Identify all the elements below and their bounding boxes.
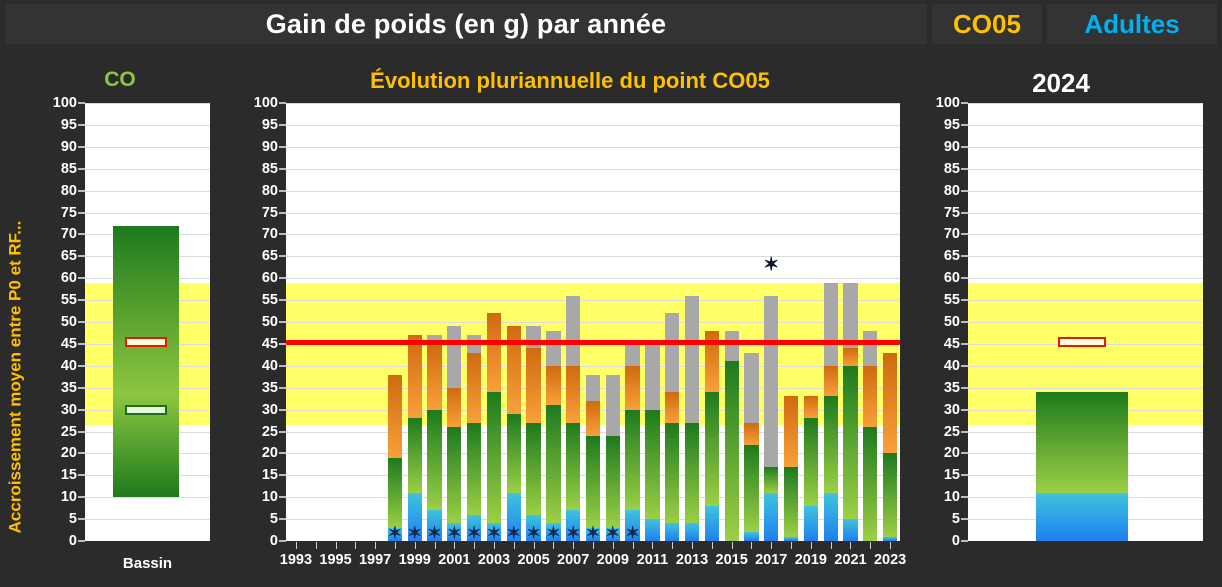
x-tick-mark <box>454 542 455 549</box>
y-tick-mark <box>961 146 968 148</box>
bar-segment-green <box>804 418 818 506</box>
y-tick-label: 15 <box>922 467 960 483</box>
bar-segment-green <box>427 410 441 511</box>
bar-segment-green <box>625 410 639 511</box>
outlier-star-icon: ✶ <box>763 256 779 275</box>
y-tick-label: 90 <box>922 139 960 155</box>
x-tick-mark <box>692 542 693 549</box>
x-tick-mark <box>514 542 515 549</box>
y-tick-mark <box>961 255 968 257</box>
y-tick-mark <box>961 387 968 389</box>
bar-segment-green <box>447 427 461 523</box>
y-tick-label: 80 <box>39 183 77 199</box>
y-tick-mark <box>78 452 85 454</box>
bar-segment-orange <box>487 313 501 392</box>
gridline <box>85 497 210 498</box>
y-tick-mark <box>961 321 968 323</box>
y-tick-label: 60 <box>240 270 278 286</box>
stacked-bar[interactable] <box>388 103 402 541</box>
stacked-bar[interactable] <box>645 103 659 541</box>
y-tick-label: 60 <box>39 270 77 286</box>
y-tick-label: 55 <box>922 292 960 308</box>
y-tick-mark <box>961 233 968 235</box>
bar-segment-gray <box>824 283 838 366</box>
timeseries-y-ticks: 0510152025303540455055606570758085909510… <box>240 103 286 541</box>
bar-segment-orange <box>447 388 461 427</box>
timeseries-chart-title: Évolution pluriannuelle du point CO05 <box>240 68 900 94</box>
y-axis-caption: Accroissement moyen entre P0 et RF... <box>2 147 28 587</box>
bar-segment-orange <box>625 366 639 410</box>
bar-segment-green <box>705 392 719 506</box>
x-tick-mark <box>415 542 416 549</box>
x-tick-mark <box>850 542 851 549</box>
panel-timeseries: Évolution pluriannuelle du point CO05 05… <box>240 52 900 587</box>
bar-segment-orange <box>566 366 580 423</box>
page-title: Gain de poids (en g) par année <box>266 9 667 40</box>
bar-segment-blue <box>645 519 659 541</box>
x-tick-mark <box>791 542 792 549</box>
bar-segment-green <box>725 361 739 541</box>
x-tick-mark <box>593 542 594 549</box>
bar-segment-orange <box>408 335 422 418</box>
y-tick-mark <box>279 387 286 389</box>
stacked-bar[interactable] <box>705 103 719 541</box>
bar-segment-gray <box>744 353 758 423</box>
y-tick-label: 65 <box>922 248 960 264</box>
x-tick-mark <box>296 542 297 549</box>
bar-segment-gray <box>645 340 659 410</box>
bar-segment-orange <box>665 392 679 423</box>
x-tick-label: 2021 <box>834 552 866 568</box>
x-tick-label: 2003 <box>478 552 510 568</box>
basin-y-ticks: 0510152025303540455055606570758085909510… <box>39 103 85 541</box>
y-tick-label: 90 <box>240 139 278 155</box>
y-tick-label: 10 <box>39 489 77 505</box>
bar-segment-green <box>843 366 857 519</box>
y-tick-mark <box>78 255 85 257</box>
bar-segment-blue <box>764 493 778 541</box>
bar-segment-orange <box>546 366 560 405</box>
y-tick-mark <box>961 343 968 345</box>
y-tick-label: 25 <box>922 424 960 440</box>
y-tick-label: 40 <box>39 358 77 374</box>
stacked-bar[interactable] <box>408 103 422 541</box>
y-tick-label: 85 <box>39 161 77 177</box>
stacked-bar[interactable] <box>804 103 818 541</box>
y-tick-mark <box>961 124 968 126</box>
bar-segment-green <box>883 453 897 536</box>
y-tick-mark <box>78 540 85 542</box>
y-tick-label: 10 <box>922 489 960 505</box>
y-tick-mark <box>279 474 286 476</box>
gridline <box>85 169 210 170</box>
bar-segment-green <box>467 423 481 515</box>
y-tick-mark <box>961 299 968 301</box>
bar-segment-orange <box>824 366 838 397</box>
y-tick-label: 30 <box>39 402 77 418</box>
x-tick-mark <box>613 542 614 549</box>
x-tick-mark <box>474 542 475 549</box>
x-tick-label: 1999 <box>399 552 431 568</box>
y-tick-mark <box>961 365 968 367</box>
x-tick-mark <box>633 542 634 549</box>
y-tick-label: 70 <box>39 226 77 242</box>
bar-segment-blue <box>883 537 897 541</box>
y-tick-label: 20 <box>240 445 278 461</box>
bar-segment-blue <box>705 506 719 541</box>
bar-segment-green <box>685 423 699 524</box>
basin-category-label: Bassin <box>123 555 172 572</box>
bar-segment-orange <box>784 396 798 466</box>
stacked-bar[interactable] <box>507 103 521 541</box>
y-tick-mark <box>961 277 968 279</box>
y-tick-mark <box>78 102 85 104</box>
y-tick-mark <box>279 365 286 367</box>
significance-star-icon: ✶ <box>606 525 620 542</box>
stacked-bar[interactable] <box>427 103 441 541</box>
x-tick-label: 2001 <box>438 552 470 568</box>
bar-segment-green <box>507 414 521 493</box>
y-tick-mark <box>78 431 85 433</box>
bar-segment-green <box>388 458 402 528</box>
bar-segment-orange <box>804 396 818 418</box>
bar-segment-green <box>546 405 560 523</box>
bar-segment-orange <box>883 353 897 454</box>
bar-segment-green <box>744 445 758 533</box>
y-tick-label: 5 <box>922 511 960 527</box>
bar-segment-blue <box>843 519 857 541</box>
gridline <box>85 103 210 104</box>
bar-segment-gray <box>606 375 620 436</box>
stacked-bar[interactable] <box>725 103 739 541</box>
bar-segment-blue <box>784 537 798 541</box>
x-tick-mark <box>732 542 733 549</box>
bar-segment-gray <box>764 296 778 467</box>
x-tick-mark <box>355 542 356 549</box>
bar-segment-orange <box>863 366 877 427</box>
stacked-bar[interactable] <box>526 103 540 541</box>
y-tick-label: 0 <box>922 533 960 549</box>
bar-segment-green <box>566 423 580 511</box>
y-tick-mark <box>78 387 85 389</box>
y-tick-mark <box>279 190 286 192</box>
y-tick-label: 45 <box>240 336 278 352</box>
gridline <box>85 519 210 520</box>
bar-segment-green <box>526 423 540 515</box>
y-tick-mark <box>961 102 968 104</box>
y-tick-label: 25 <box>39 424 77 440</box>
stacked-bar[interactable] <box>487 103 501 541</box>
y-tick-mark <box>78 518 85 520</box>
x-tick-label: 2019 <box>795 552 827 568</box>
y-tick-mark <box>279 146 286 148</box>
bar-segment-orange <box>586 401 600 436</box>
y-tick-mark <box>961 518 968 520</box>
x-tick-mark <box>652 542 653 549</box>
reference-line <box>286 340 900 345</box>
bar-segment-gray <box>685 296 699 423</box>
y-tick-label: 0 <box>240 533 278 549</box>
panel-current-year: 2024 05101520253035404550556065707580859… <box>900 52 1222 587</box>
header-site-code-box[interactable]: CO05 <box>932 4 1042 44</box>
x-tick-mark <box>712 542 713 549</box>
timeseries-plot-area[interactable]: ✶✶✶✶✶✶✶✶✶✶✶✶✶✶ <box>286 103 900 541</box>
y-tick-label: 10 <box>240 489 278 505</box>
y-tick-mark <box>279 409 286 411</box>
bar-segment-green <box>645 410 659 520</box>
y-tick-label: 100 <box>240 95 278 111</box>
y-tick-mark <box>78 299 85 301</box>
stacked-bar[interactable] <box>546 103 560 541</box>
dashboard-root: Gain de poids (en g) par année CO05 Adul… <box>0 0 1222 587</box>
y-tick-mark <box>78 233 85 235</box>
x-tick-mark <box>811 542 812 549</box>
y-tick-mark <box>78 474 85 476</box>
y-tick-label: 95 <box>240 117 278 133</box>
x-tick-mark <box>553 542 554 549</box>
bar-segment-green <box>408 418 422 492</box>
y-tick-mark <box>961 431 968 433</box>
y-tick-mark <box>279 496 286 498</box>
y-tick-label: 75 <box>39 205 77 221</box>
y-tick-label: 5 <box>240 511 278 527</box>
significance-star-icon: ✶ <box>487 525 501 542</box>
bar-segment-orange <box>388 375 402 458</box>
bar-segment-blue <box>804 506 818 541</box>
bar-segment-blue <box>824 493 838 541</box>
stacked-bar[interactable] <box>566 103 580 541</box>
y-tick-label: 30 <box>240 402 278 418</box>
y-tick-mark <box>279 212 286 214</box>
bar-segment-gray <box>447 326 461 387</box>
y-tick-mark <box>78 321 85 323</box>
x-tick-label: 2007 <box>557 552 589 568</box>
bar-segment-orange <box>744 423 758 445</box>
y-tick-mark <box>961 474 968 476</box>
y-tick-mark <box>961 212 968 214</box>
gridline <box>85 191 210 192</box>
y-tick-label: 75 <box>240 205 278 221</box>
stacked-bar[interactable] <box>843 103 857 541</box>
y-tick-label: 55 <box>240 292 278 308</box>
y-tick-mark <box>961 190 968 192</box>
x-tick-mark <box>672 542 673 549</box>
bar-segment-green <box>764 467 778 493</box>
y-tick-mark <box>78 409 85 411</box>
y-tick-mark <box>961 452 968 454</box>
y-tick-mark <box>279 102 286 104</box>
y-tick-mark <box>279 299 286 301</box>
bar-segment-gray <box>586 375 600 401</box>
x-tick-mark <box>316 542 317 549</box>
y-tick-mark <box>279 431 286 433</box>
y-tick-mark <box>78 343 85 345</box>
y-tick-mark <box>961 540 968 542</box>
y-tick-mark <box>961 409 968 411</box>
stacked-bar[interactable] <box>665 103 679 541</box>
y-tick-label: 95 <box>39 117 77 133</box>
y-tick-label: 65 <box>39 248 77 264</box>
significance-star-icon: ✶ <box>408 525 422 542</box>
stacked-bar[interactable] <box>1036 103 1128 541</box>
bar-segment-orange <box>427 344 441 410</box>
y-tick-label: 80 <box>240 183 278 199</box>
gridline <box>85 147 210 148</box>
current-year-plot-area[interactable] <box>968 103 1203 541</box>
stacked-bar[interactable] <box>625 103 639 541</box>
y-tick-label: 0 <box>39 533 77 549</box>
stacked-bar[interactable] <box>586 103 600 541</box>
y-tick-label: 60 <box>922 270 960 286</box>
y-tick-label: 50 <box>240 314 278 330</box>
y-tick-label: 30 <box>922 402 960 418</box>
site-code-label: CO05 <box>953 9 1021 40</box>
bar-segment-green <box>586 436 600 528</box>
bar-segment-gray <box>863 331 877 366</box>
y-tick-label: 45 <box>39 336 77 352</box>
basin-marker-green <box>125 405 167 415</box>
x-tick-label: 2011 <box>637 552 668 568</box>
y-tick-label: 15 <box>39 467 77 483</box>
x-tick-mark <box>375 542 376 549</box>
y-tick-label: 50 <box>39 314 77 330</box>
x-tick-label: 2017 <box>755 552 787 568</box>
stacked-bar[interactable] <box>606 103 620 541</box>
y-tick-label: 15 <box>240 467 278 483</box>
y-tick-label: 25 <box>240 424 278 440</box>
bar-segment-blue <box>1036 493 1128 541</box>
y-tick-label: 100 <box>39 95 77 111</box>
gridline <box>85 125 210 126</box>
significance-star-icon: ✶ <box>586 525 600 542</box>
x-tick-mark <box>395 542 396 549</box>
y-tick-mark <box>279 321 286 323</box>
bar-segment-gray <box>566 296 580 366</box>
header-bar: Gain de poids (en g) par année CO05 Adul… <box>0 0 1222 48</box>
y-tick-label: 20 <box>922 445 960 461</box>
x-tick-mark <box>751 542 752 549</box>
y-tick-label: 95 <box>922 117 960 133</box>
y-tick-mark <box>78 277 85 279</box>
stacked-bar[interactable] <box>883 103 897 541</box>
y-tick-label: 35 <box>39 380 77 396</box>
x-tick-label: 2009 <box>597 552 629 568</box>
x-tick-label: 2015 <box>716 552 748 568</box>
stacked-bar[interactable] <box>784 103 798 541</box>
bar-segment-orange <box>526 348 540 422</box>
bar-segment-blue <box>685 523 699 541</box>
y-tick-label: 40 <box>240 358 278 374</box>
bar-segment-orange <box>843 348 857 366</box>
significance-star-icon: ✶ <box>625 525 639 542</box>
y-tick-mark <box>961 168 968 170</box>
bar-segment-green <box>824 396 838 492</box>
bar-segment-green <box>487 392 501 523</box>
y-tick-label: 65 <box>240 248 278 264</box>
y-tick-label: 70 <box>922 226 960 242</box>
basin-plot-area[interactable] <box>85 103 210 541</box>
y-tick-label: 40 <box>922 358 960 374</box>
y-tick-mark <box>78 124 85 126</box>
basin-range-bar[interactable] <box>113 226 179 498</box>
stacked-bar[interactable] <box>685 103 699 541</box>
y-tick-mark <box>279 540 286 542</box>
y-tick-label: 5 <box>39 511 77 527</box>
x-tick-mark <box>534 542 535 549</box>
y-tick-label: 90 <box>39 139 77 155</box>
significance-star-icon: ✶ <box>507 525 521 542</box>
y-tick-mark <box>279 255 286 257</box>
y-tick-mark <box>279 168 286 170</box>
bar-segment-orange <box>467 353 481 423</box>
significance-star-icon: ✶ <box>467 525 481 542</box>
x-tick-label: 1997 <box>359 552 391 568</box>
y-tick-mark <box>78 168 85 170</box>
significance-star-icon: ✶ <box>447 525 461 542</box>
y-tick-mark <box>78 190 85 192</box>
y-tick-mark <box>279 233 286 235</box>
header-title-box: Gain de poids (en g) par année <box>5 4 927 44</box>
x-tick-mark <box>573 542 574 549</box>
y-tick-mark <box>279 452 286 454</box>
bar-segment-green <box>784 467 798 537</box>
basin-chart-title: CO <box>0 68 240 92</box>
x-tick-mark <box>831 542 832 549</box>
y-tick-label: 70 <box>240 226 278 242</box>
y-tick-label: 50 <box>922 314 960 330</box>
y-tick-mark <box>279 124 286 126</box>
header-stage-box[interactable]: Adultes <box>1047 4 1217 44</box>
bar-segment-gray <box>843 283 857 349</box>
bar-segment-gray <box>526 326 540 348</box>
stacked-bar[interactable] <box>447 103 461 541</box>
significance-star-icon: ✶ <box>388 525 402 542</box>
x-tick-label: 2013 <box>676 552 708 568</box>
y-tick-label: 75 <box>922 205 960 221</box>
significance-star-icon: ✶ <box>526 525 540 542</box>
y-tick-label: 35 <box>922 380 960 396</box>
x-tick-mark <box>870 542 871 549</box>
y-tick-mark <box>961 496 968 498</box>
panel-basin: CO Accroissement moyen entre P0 et RF...… <box>0 52 240 587</box>
x-tick-mark <box>890 542 891 549</box>
significance-star-icon: ✶ <box>566 525 580 542</box>
significance-star-icon: ✶ <box>427 525 441 542</box>
y-tick-mark <box>279 518 286 520</box>
bar-segment-green <box>606 436 620 528</box>
bar-segment-blue <box>665 523 679 541</box>
bar-segment-gray <box>665 313 679 392</box>
stacked-bar[interactable] <box>764 103 778 541</box>
stacked-bar[interactable] <box>467 103 481 541</box>
current-year-y-ticks: 0510152025303540455055606570758085909510… <box>922 103 968 541</box>
stacked-bar[interactable] <box>824 103 838 541</box>
y-tick-mark <box>279 277 286 279</box>
stacked-bar[interactable] <box>744 103 758 541</box>
bar-segment-gray <box>725 331 739 362</box>
bar-segment-green <box>665 423 679 524</box>
y-tick-label: 80 <box>922 183 960 199</box>
stacked-bar[interactable] <box>863 103 877 541</box>
y-tick-mark <box>279 343 286 345</box>
x-tick-mark <box>336 542 337 549</box>
y-tick-mark <box>78 365 85 367</box>
basin-marker-red <box>125 337 167 347</box>
bar-segment-green <box>863 427 877 541</box>
y-tick-label: 55 <box>39 292 77 308</box>
stage-label: Adultes <box>1084 9 1179 40</box>
y-tick-label: 85 <box>240 161 278 177</box>
